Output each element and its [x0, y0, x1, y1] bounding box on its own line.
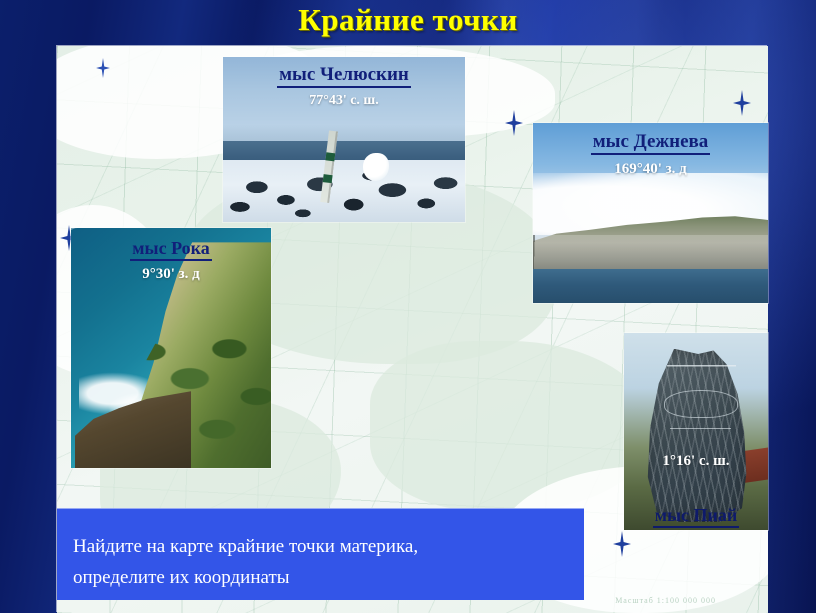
photo-card-roca[interactable]: мыс Рока 9°30' з. д [71, 228, 271, 468]
card-caption: мыс Пиай [624, 505, 768, 526]
page-title: Крайние точки [0, 2, 816, 38]
card-coordinate: 77°43' с. ш. [223, 93, 465, 109]
photo-post-band [326, 152, 336, 161]
photo-card-chelyuskin[interactable]: мыс Челюскин 77°43' с. ш. [223, 57, 465, 222]
photo-card-dezhnev[interactable]: мыс Дежнева 169°40' з. д [533, 123, 768, 303]
map-scale-note: Масштаб 1:100 000 000 [615, 596, 716, 605]
sparkle-icon [613, 531, 631, 557]
photo-rocks [223, 164, 465, 222]
card-coordinate: 1°16' с. ш. [624, 453, 768, 470]
sparkle-icon [96, 58, 110, 78]
sparkle-icon [505, 110, 523, 136]
photo-engraved-emblem [664, 390, 738, 418]
photo-inscription [667, 365, 736, 383]
question-line-1: Найдите на карте крайние точки материка, [73, 531, 584, 562]
card-caption: мыс Челюскин [223, 64, 465, 86]
card-caption: мыс Дежнева [533, 131, 768, 153]
question-box: Найдите на карте крайние точки материка,… [57, 508, 584, 600]
presentation-slide: Крайние точки Масштаб 1:100 000 000 [0, 0, 816, 613]
photo-post-band [323, 174, 333, 183]
photo-card-piay[interactable]: 1°16' с. ш. мыс Пиай [624, 333, 768, 530]
question-line-2: определите их координаты [73, 562, 584, 593]
sparkle-icon [733, 90, 751, 116]
card-coordinate: 9°30' з. д [71, 266, 271, 283]
card-coordinate: 169°40' з. д [533, 161, 768, 178]
card-caption: мыс Рока [71, 238, 271, 259]
photo-sea [533, 269, 768, 303]
